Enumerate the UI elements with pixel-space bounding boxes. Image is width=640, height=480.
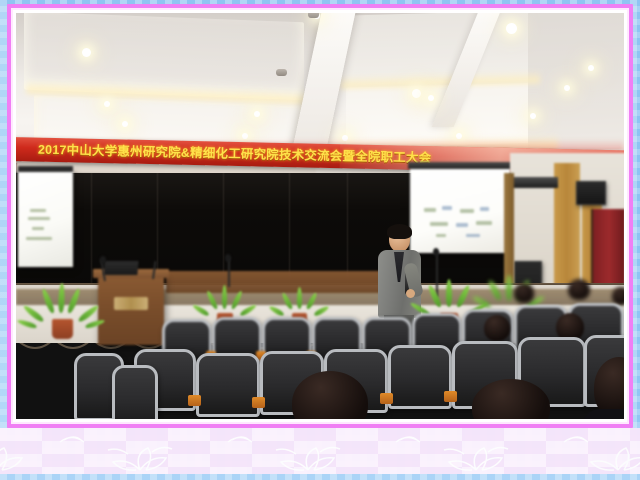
decorative-photo-frame: 2017中山大学惠州研究院&精细化工研究院技术交流会暨全院职工大会	[0, 0, 640, 480]
frame-bottom-ornament-band	[0, 428, 640, 474]
frame-pink-accent-line	[7, 4, 633, 428]
floral-swirl-pattern-icon	[0, 428, 640, 474]
